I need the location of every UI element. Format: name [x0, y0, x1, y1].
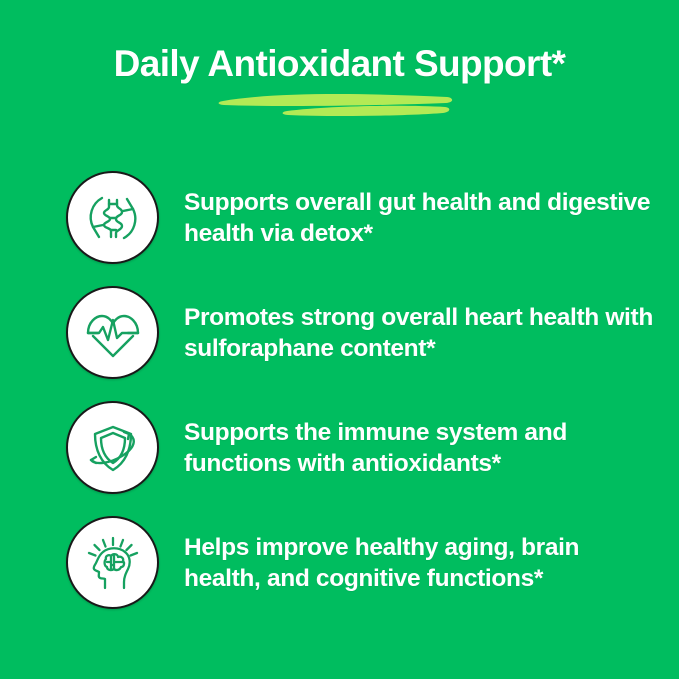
shield-antioxidant-icon [80, 415, 146, 481]
header: Daily Antioxidant Support* [0, 42, 679, 122]
title-underline [0, 90, 679, 122]
brain-head-icon [80, 530, 146, 596]
benefit-item-immune: Supports the immune system and functions… [0, 390, 679, 505]
benefit-item-heart-label: Promotes strong overall heart health wit… [184, 302, 654, 364]
swoosh-underline-icon [215, 90, 465, 120]
page-title: Daily Antioxidant Support* [0, 42, 679, 86]
benefit-item-immune-label: Supports the immune system and functions… [184, 417, 654, 479]
benefit-item-brain-label: Helps improve healthy aging, brain healt… [184, 532, 654, 594]
shield-antioxidant-icon-badge [66, 401, 159, 494]
gut-digestion-icon-badge [66, 171, 159, 264]
heart-pulse-icon [80, 300, 146, 366]
benefit-item-brain: Helps improve healthy aging, brain healt… [0, 505, 679, 620]
product-benefits-panel: Daily Antioxidant Support* [0, 0, 679, 679]
benefit-item-heart: Promotes strong overall heart health wit… [0, 275, 679, 390]
benefit-item-gut: Supports overall gut health and digestiv… [0, 160, 679, 275]
brain-head-icon-badge [66, 516, 159, 609]
benefit-item-gut-label: Supports overall gut health and digestiv… [184, 187, 654, 249]
benefit-list: Supports overall gut health and digestiv… [0, 160, 679, 620]
heart-pulse-icon-badge [66, 286, 159, 379]
gut-digestion-icon [80, 185, 146, 251]
